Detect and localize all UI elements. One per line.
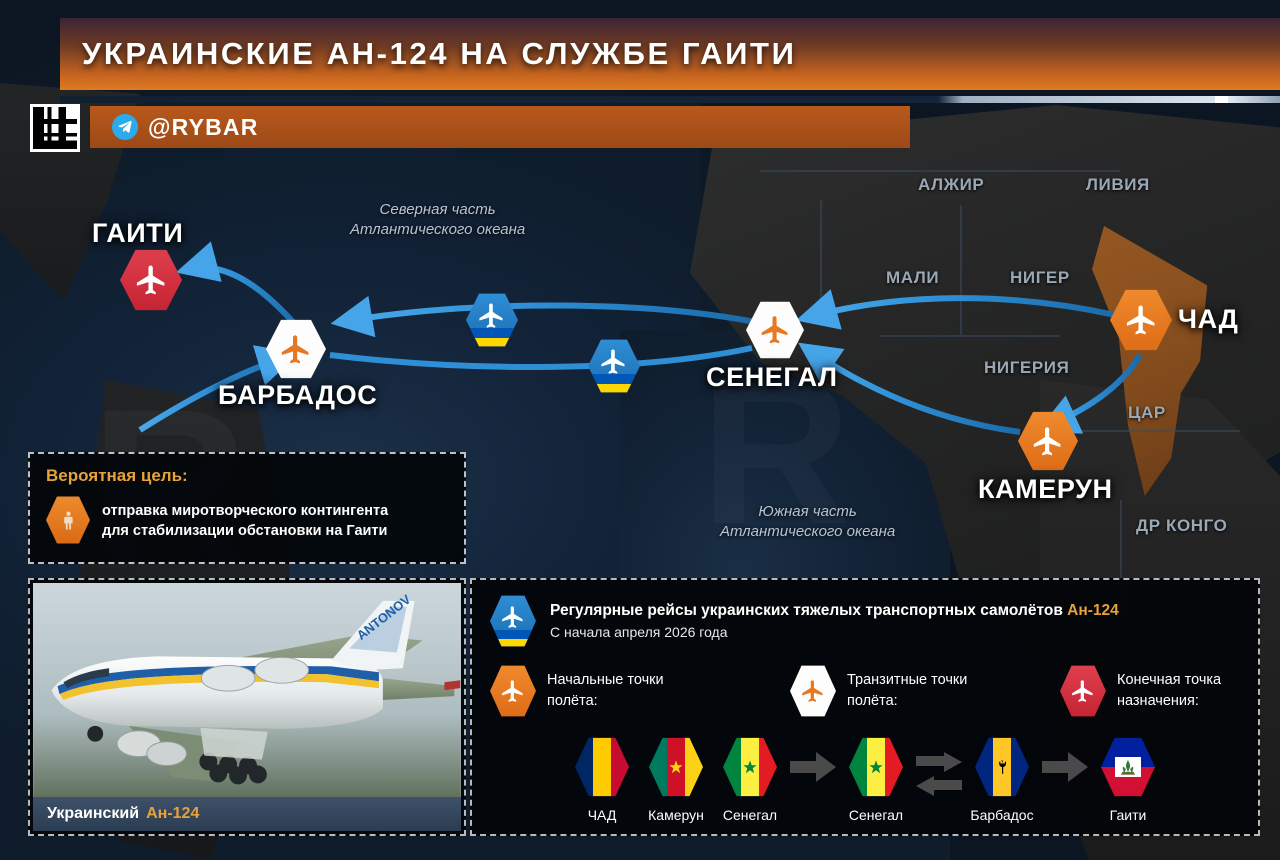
infographic-root: R R Северная часть Атлант xyxy=(0,0,1280,860)
route-node-senegal-1[interactable]: Сенегал xyxy=(713,736,787,823)
legend-item-transit: Транзитные точкиполёта: xyxy=(790,664,1060,718)
photo-caption: Украинский Ан-124 xyxy=(33,797,461,831)
photo-caption-accent: Ан-124 xyxy=(146,805,199,823)
map-marker-senegal[interactable] xyxy=(746,300,804,360)
goal-text: отправка миротворческого контингента для… xyxy=(102,495,388,541)
flag-chad xyxy=(575,736,629,798)
plane-icon xyxy=(1031,424,1065,459)
map-country-senegal: СЕНЕГАЛ xyxy=(706,362,838,393)
legend-flights-subtitle: С начала апреля 2026 года xyxy=(550,624,1119,640)
flag-cameroon xyxy=(649,736,703,798)
telegram-handle: @RYBAR xyxy=(148,114,259,141)
route-node-label: Камерун xyxy=(648,807,704,823)
map-country-chad: ЧАД xyxy=(1178,304,1239,335)
route-node-label: Сенегал xyxy=(723,807,777,823)
origin-plane-hex-icon xyxy=(490,664,536,718)
an124-photo: ANTONOV xyxy=(33,583,461,831)
legend-origin-text: Начальные точкиполёта: xyxy=(547,670,664,712)
aircraft-photo-panel: ANTONOV xyxy=(28,578,466,836)
flag-haiti xyxy=(1101,736,1155,798)
legend-panel: Регулярные рейсы украинских тяжелых тран… xyxy=(470,578,1260,836)
ocean-label-north-atlantic: Северная часть Атлантического океана xyxy=(350,200,525,241)
ukraine-plane-hex-icon xyxy=(490,594,536,648)
header-banner: УКРАИНСКИЕ АН-124 НА СЛУЖБЕ ГАИТИ xyxy=(60,18,1280,90)
route-node-label: Барбадос xyxy=(970,807,1033,823)
route-node-label: Сенегал xyxy=(849,807,903,823)
map-country-cameroon: КАМЕРУН xyxy=(978,474,1113,505)
route-node-senegal-2[interactable]: Сенегал xyxy=(839,736,913,823)
map-label-niger: НИГЕР xyxy=(1010,268,1070,288)
peacekeeper-icon xyxy=(46,495,90,545)
probable-goal-panel: Вероятная цель: отправка миротворческого… xyxy=(28,452,466,564)
map-marker-flight-ukraine-1[interactable] xyxy=(466,292,518,348)
map-border xyxy=(820,200,822,310)
route-node-chad[interactable]: ЧАД xyxy=(565,736,639,823)
photo-caption-main: Украинский xyxy=(47,805,139,823)
map-marker-cameroon[interactable] xyxy=(1018,410,1078,472)
legend-destination-text: Конечная точканазначения: xyxy=(1117,670,1221,712)
map-label-car: ЦАР xyxy=(1128,403,1166,423)
plane-icon xyxy=(279,332,313,367)
plane-icon xyxy=(134,262,169,298)
telegram-icon xyxy=(112,114,138,140)
route-node-label: Гаити xyxy=(1110,807,1147,823)
header-underline xyxy=(60,96,1280,103)
map-label-dr-congo: ДР КОНГО xyxy=(1136,516,1228,536)
map-border xyxy=(1050,430,1240,432)
legend-transit-text: Транзитные точкиполёта: xyxy=(847,670,967,712)
map-marker-chad[interactable] xyxy=(1110,288,1172,352)
map-country-barbados: БАРБАДОС xyxy=(218,380,377,411)
route-arrow-single xyxy=(1039,736,1091,782)
route-arrow-double xyxy=(913,736,965,796)
flag-senegal xyxy=(849,736,903,798)
plane-icon xyxy=(1124,302,1159,338)
ukraine-flag-badge xyxy=(588,374,640,394)
map-label-nigeria: НИГЕРИЯ xyxy=(984,358,1069,378)
map-border xyxy=(960,205,962,335)
map-marker-barbados[interactable] xyxy=(266,318,326,380)
route-arrow-single xyxy=(787,736,839,782)
flag-barbados xyxy=(975,736,1029,798)
map-marker-haiti[interactable] xyxy=(120,248,182,312)
route-node-cameroon[interactable]: Камерун xyxy=(639,736,713,823)
map-label-libya: ЛИВИЯ xyxy=(1086,175,1150,195)
map-border xyxy=(880,335,1060,337)
ocean-label-south-atlantic: Южная часть Атлантического океана xyxy=(720,502,895,543)
page-title: УКРАИНСКИЕ АН-124 НА СЛУЖБЕ ГАИТИ xyxy=(82,36,796,72)
route-node-haiti[interactable]: Гаити xyxy=(1091,736,1165,823)
destination-plane-hex-icon xyxy=(1060,664,1106,718)
map-border xyxy=(760,170,1120,172)
plane-icon xyxy=(759,313,791,347)
header-underline-tick xyxy=(1215,96,1228,103)
telegram-bar[interactable]: @RYBAR xyxy=(90,106,910,148)
route-chain: ЧАД Камерун Сенегал xyxy=(490,736,1240,823)
ukraine-flag-badge xyxy=(466,328,518,348)
legend-item-origin: Начальные точкиполёта: xyxy=(490,664,790,718)
goal-title: Вероятная цель: xyxy=(46,466,448,486)
qr-code-icon[interactable] xyxy=(30,104,80,152)
map-label-algeria: АЛЖИР xyxy=(918,175,984,195)
transit-plane-hex-icon xyxy=(790,664,836,718)
map-country-haiti: ГАИТИ xyxy=(92,218,183,249)
map-marker-flight-ukraine-2[interactable] xyxy=(588,338,640,394)
map-label-mali: МАЛИ xyxy=(886,268,939,288)
route-node-label: ЧАД xyxy=(588,807,617,823)
legend-flights-title: Регулярные рейсы украинских тяжелых тран… xyxy=(550,602,1119,620)
flag-senegal xyxy=(723,736,777,798)
route-node-barbados[interactable]: Барбадос xyxy=(965,736,1039,823)
legend-item-destination: Конечная точканазначения: xyxy=(1060,664,1221,718)
